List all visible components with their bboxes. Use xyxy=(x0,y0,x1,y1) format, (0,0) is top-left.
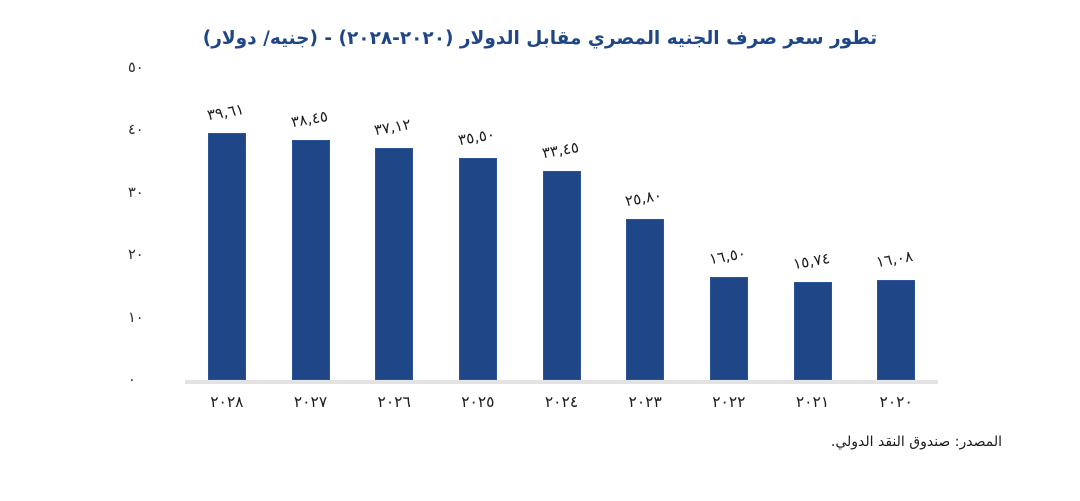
bar[interactable] xyxy=(292,140,330,380)
x-axis-category-label: ٢٠٢٠ xyxy=(880,393,913,411)
chart-page: تطور سعر صرف الجنيه المصري مقابل الدولار… xyxy=(0,0,1080,501)
bar-group[interactable]: ١٦,٥٠٢٠٢٢ xyxy=(687,0,771,501)
bar-value-label: ٣٧,١٢ xyxy=(373,115,413,139)
x-axis-category-label: ٢٠٢١ xyxy=(796,393,829,411)
bar-value-label: ٣٩,٦١ xyxy=(205,100,245,124)
bar[interactable] xyxy=(710,277,748,380)
y-axis-tick-label: ٣٠ xyxy=(128,185,186,201)
x-axis-category-label: ٢٠٢٧ xyxy=(294,393,327,411)
x-axis-category-label: ٢٠٢٤ xyxy=(545,393,578,411)
y-axis-tick-label: ١٠ xyxy=(128,310,186,326)
bar-value-label: ٣٥,٥٠ xyxy=(456,126,496,150)
bar[interactable] xyxy=(208,133,246,380)
bar-value-label: ٣٨,٤٥ xyxy=(289,107,329,131)
x-axis-category-label: ٢٠٢٣ xyxy=(629,393,662,411)
x-axis-category-label: ٢٠٢٥ xyxy=(461,393,494,411)
plot-area: ٠١٠٢٠٣٠٤٠٥٠ ١٦,٠٨٢٠٢٠١٥,٧٤٢٠٢١١٦,٥٠٢٠٢٢٢… xyxy=(0,0,1080,501)
y-axis-tick-label: ٠ xyxy=(128,372,186,388)
bar-group[interactable]: ٣٣,٤٥٢٠٢٤ xyxy=(520,0,604,501)
bar[interactable] xyxy=(626,219,664,380)
bar-group[interactable]: ٣٩,٦١٢٠٢٨ xyxy=(185,0,269,501)
bar[interactable] xyxy=(543,171,581,380)
bar-series: ١٦,٠٨٢٠٢٠١٥,٧٤٢٠٢١١٦,٥٠٢٠٢٢٢٥,٨٠٢٠٢٣٣٣,٤… xyxy=(185,0,938,501)
bar-value-label: ١٦,٠٨ xyxy=(875,247,915,271)
bar-value-label: ١٦,٥٠ xyxy=(707,244,747,268)
y-axis-tick-label: ٥٠ xyxy=(128,60,186,76)
bar[interactable] xyxy=(877,280,915,380)
bar-group[interactable]: ١٦,٠٨٢٠٢٠ xyxy=(854,0,938,501)
bar[interactable] xyxy=(375,148,413,380)
bar[interactable] xyxy=(459,158,497,380)
x-axis-category-label: ٢٠٢٨ xyxy=(210,393,243,411)
bar-value-label: ٢٥,٨٠ xyxy=(624,186,664,210)
bar-group[interactable]: ١٥,٧٤٢٠٢١ xyxy=(771,0,855,501)
bar-value-label: ١٥,٧٤ xyxy=(791,249,831,273)
y-axis-tick-label: ٤٠ xyxy=(128,122,186,138)
bar-group[interactable]: ٣٨,٤٥٢٠٢٧ xyxy=(269,0,353,501)
bar-group[interactable]: ٣٧,١٢٢٠٢٦ xyxy=(352,0,436,501)
bar-group[interactable]: ٣٥,٥٠٢٠٢٥ xyxy=(436,0,520,501)
y-axis-tick-label: ٢٠ xyxy=(128,247,186,263)
bar[interactable] xyxy=(794,282,832,380)
x-axis-category-label: ٢٠٢٦ xyxy=(378,393,411,411)
x-axis-category-label: ٢٠٢٢ xyxy=(712,393,745,411)
bar-group[interactable]: ٢٥,٨٠٢٠٢٣ xyxy=(603,0,687,501)
source-note: المصدر: صندوق النقد الدولي. xyxy=(831,434,1002,450)
bar-value-label: ٣٣,٤٥ xyxy=(540,138,580,162)
